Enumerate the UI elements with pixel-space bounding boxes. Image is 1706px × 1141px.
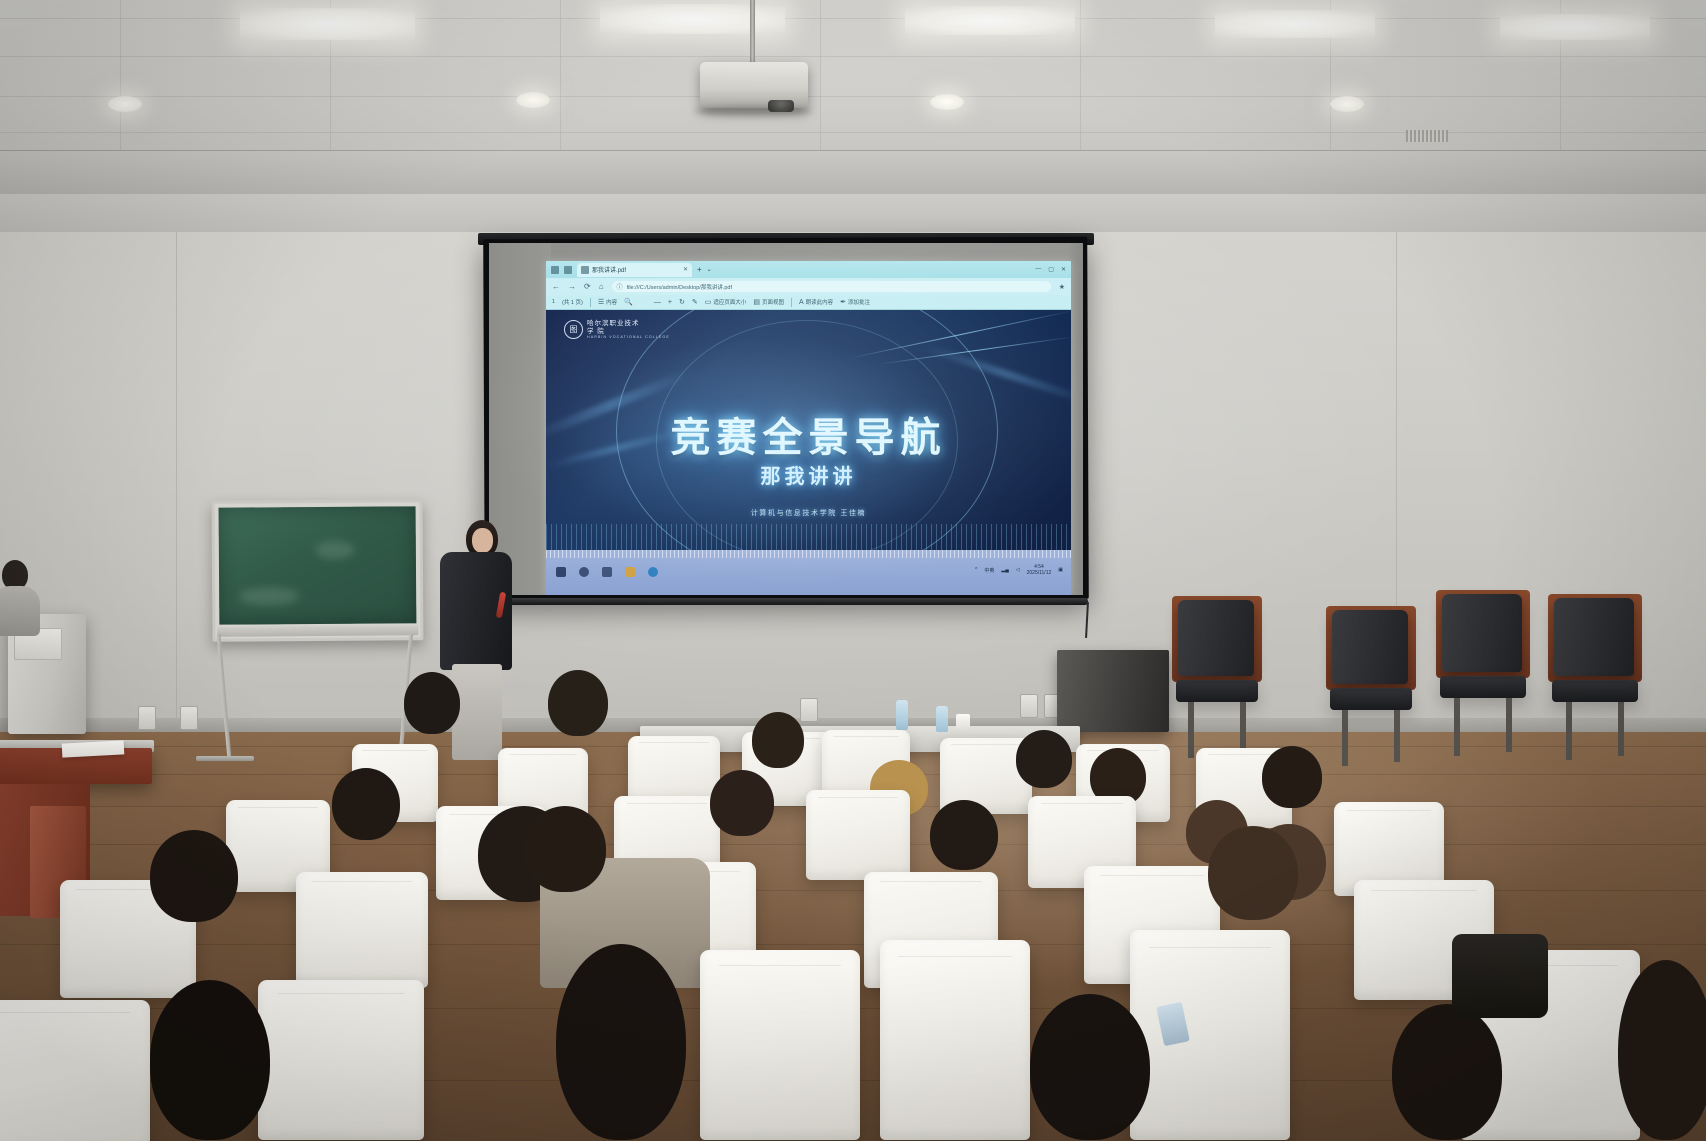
audience-head [548,670,608,736]
network-icon[interactable]: ▂▄ [1001,567,1008,573]
chalk-tray [217,625,418,636]
audience-head [332,768,400,840]
rotate-icon[interactable]: ↻ [679,298,685,306]
audience-seat [0,1000,150,1141]
projection-screen: 那我讲讲.pdf ✕ + ⌄ — ▢ ✕ ← → ⟳ ⌂ ⓘ fil [489,243,1083,595]
chalkboard-surface [219,506,417,624]
search-icon[interactable]: 🔍 [624,298,633,306]
home-icon[interactable]: ⌂ [599,282,604,291]
ime-indicator[interactable]: 中英 [984,567,994,574]
wall-outlet [800,698,818,722]
page-total-label: (共 1 页) [562,298,583,306]
av-equipment-cabinet [1057,650,1169,732]
office-chair [1548,594,1644,760]
toolbar-divider [590,298,591,307]
pdf-viewer-toolbar[interactable]: 1 (共 1 页) ☰ 内容 🔍 — + ↻ ✎ ▭ 适应页面大小 ▤ 页 [546,295,1071,310]
tab-title: 那我讲讲.pdf [592,265,626,274]
back-icon[interactable]: ← [552,282,560,291]
audience-head [524,806,606,892]
presenter-legs [452,664,502,760]
notification-icon[interactable]: ▣ [1058,567,1063,573]
audience-head [1208,826,1298,920]
ceiling-light-panel [240,8,415,40]
water-bottle [936,706,948,732]
pen-icon: ✒ [840,298,846,306]
contents-label: 内容 [606,298,617,306]
ceiling-light-panel [905,6,1075,35]
ceiling-light-panel [600,4,785,34]
audience-head [1016,730,1072,788]
edge-browser-window[interactable]: 那我讲讲.pdf ✕ + ⌄ — ▢ ✕ ← → ⟳ ⌂ ⓘ fil [546,261,1071,595]
wall-outlet [180,706,198,730]
recessed-downlight [516,92,550,108]
audience-seat [258,980,424,1140]
wall-outlet [1020,694,1038,718]
chalk-smudge [315,541,355,559]
audience-head [930,800,998,870]
logo-emblem-icon: 图 [564,320,583,339]
search-icon[interactable] [579,567,589,577]
minimize-button[interactable]: — [1035,266,1041,273]
pdf-file-icon [581,266,589,274]
audience-head [1618,960,1706,1140]
page-view-label: 页面视图 [762,298,784,306]
list-icon: ☰ [598,298,604,306]
reload-icon[interactable]: ⟳ [584,282,591,291]
presenter-face [472,528,493,553]
contents-button[interactable]: ☰ 内容 [598,298,617,306]
projector-mount [750,0,755,66]
read-aloud-button[interactable]: A 朗读此内容 [799,298,833,306]
backpack [1452,934,1548,1018]
slide-bottom-texture [546,524,1071,550]
logo-cn-line2: 学 院 [587,328,670,335]
green-chalkboard [212,499,424,641]
audience-head [1262,746,1322,808]
page-view-button[interactable]: ▤ 页面视图 [753,298,784,306]
audience-head [150,980,270,1140]
fit-page-icon: ▭ [705,298,712,306]
clock-date: 2025/11/12 [1027,570,1052,576]
read-aloud-icon: A [799,299,804,306]
wall-seam [176,232,177,754]
annotate-button[interactable]: ✒ 添加批注 [840,298,870,306]
audience-head [752,712,804,768]
screen-unused-left [489,243,551,595]
wall-outlet [138,706,156,730]
close-icon[interactable]: ✕ [683,266,688,273]
pdf-slide-page: 图 哈尔滨职业技术 学 院 HARBIN VOCATIONAL COLLEGE … [546,310,1071,550]
edge-icon[interactable] [648,567,658,577]
office-chair [1326,606,1418,766]
chevron-down-icon[interactable]: ⌄ [707,266,712,273]
slide-credit: 计算机与信息技术学院 王佳楠 [546,508,1071,518]
file-explorer-icon[interactable] [625,567,635,577]
favorite-icon[interactable]: ★ [1059,283,1065,291]
clock-time: 4:54 [1034,564,1044,570]
url-input[interactable]: ⓘ file:///C:/Users/admin/Desktop/那我讲讲.pd… [612,281,1051,292]
window-close-button[interactable]: ✕ [1061,266,1066,273]
windows-icon[interactable] [556,567,566,577]
annotate-label: 添加批注 [848,298,870,306]
page-view-icon: ▤ [753,298,760,306]
ceiling-soffit [0,150,1706,196]
screen-unused-right [1069,243,1083,595]
forward-icon[interactable]: → [568,282,576,291]
recessed-downlight [930,94,964,110]
chalkboard-foot [196,756,254,761]
window-controls[interactable]: — ▢ ✕ [1035,266,1071,273]
ceiling-soffit-lower [0,194,1706,234]
new-tab-button[interactable]: + [697,265,702,274]
chalk-smudge [239,587,299,605]
tab-overview-icon[interactable] [551,266,559,274]
url-text: file:///C:/Users/admin/Desktop/那我讲讲.pdf [627,283,732,291]
audience-seat [296,872,428,988]
shoulders [0,586,40,636]
zoom-in-button[interactable]: + [668,299,672,306]
lecture-hall-photo: 那我讲讲.pdf ✕ + ⌄ — ▢ ✕ ← → ⟳ ⌂ ⓘ fil [0,0,1706,1141]
page-number-input[interactable]: 1 [552,299,555,305]
audience-head [1030,994,1150,1140]
slide-subtitle: 那我讲讲 [546,460,1071,489]
recessed-downlight [1330,96,1364,112]
audience-seat [806,790,910,880]
taskbar-clock[interactable]: 4:54 2025/11/12 [1027,564,1052,577]
maximize-button[interactable]: ▢ [1048,266,1054,273]
taskbar-icon-group[interactable] [556,567,658,577]
office-chair [1172,596,1264,756]
water-bottle [896,700,908,730]
tray-caret-icon[interactable]: ^ [975,567,977,573]
taskbar-edge-texture [546,550,1071,558]
screen-bottom-bar [484,598,1088,605]
audience-seat [880,940,1030,1140]
college-logo: 图 哈尔滨职业技术 学 院 HARBIN VOCATIONAL COLLEGE [564,320,670,339]
paper-cup [956,714,970,731]
audience-seat [1130,930,1290,1140]
fit-page-button[interactable]: ▭ 适应页面大小 [705,298,747,306]
ceiling [0,0,1706,232]
audience-head [1392,1004,1502,1140]
fit-page-label: 适应页面大小 [713,298,746,306]
zoom-out-button[interactable]: — [654,299,661,306]
logo-en-line: HARBIN VOCATIONAL COLLEGE [587,335,670,339]
audience-head [404,672,460,734]
ceiling-light-panel [1215,10,1375,38]
ceiling-light-panel [1500,14,1650,40]
audience-seat [700,950,860,1140]
system-tray[interactable]: ^ 中英 ▂▄ ◁ 4:54 2025/11/12 ▣ [975,564,1063,577]
office-chair [1436,590,1532,756]
recessed-downlight [108,96,142,112]
projector-shadow [694,106,812,116]
volume-icon[interactable]: ◁ [1016,567,1020,573]
windows-taskbar[interactable]: ^ 中英 ▂▄ ◁ 4:54 2025/11/12 ▣ [546,550,1071,595]
logo-cn-line1: 哈尔滨职业技术 [587,320,670,327]
audience-head [710,770,774,836]
toolbar-divider [791,298,792,307]
read-aloud-label: 朗读此内容 [806,298,834,306]
tab-collections-icon[interactable] [564,266,572,274]
browser-tab[interactable]: 那我讲讲.pdf ✕ [577,263,692,277]
browser-address-bar[interactable]: ← → ⟳ ⌂ ⓘ file:///C:/Users/admin/Desktop… [546,278,1071,295]
task-view-icon[interactable] [602,567,612,577]
audience-head [150,830,238,922]
projector-vent [1406,130,1448,142]
browser-tab-strip[interactable]: 那我讲讲.pdf ✕ + ⌄ — ▢ ✕ [546,261,1071,278]
audience-head [556,944,686,1140]
info-icon: ⓘ [617,282,623,291]
draw-icon[interactable]: ✎ [692,298,698,306]
slide-title: 竞赛全景导航 [546,405,1071,463]
